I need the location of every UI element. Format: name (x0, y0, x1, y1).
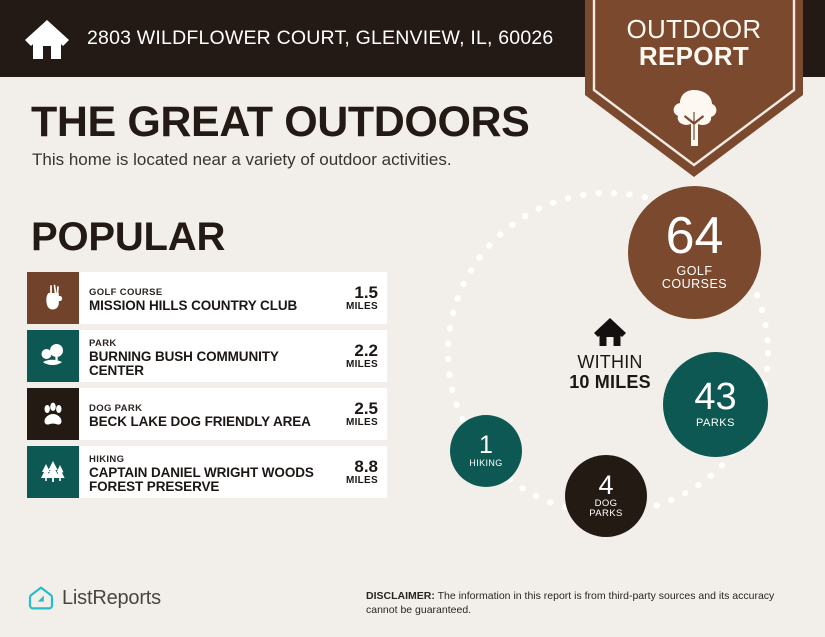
list-item-name: CAPTAIN DANIEL WRIGHT WOODS FOREST PRESE… (89, 466, 321, 495)
stat-label: HIKING (469, 459, 502, 469)
list-item-distance: 8.8 MILES (325, 446, 387, 498)
stat-label-line-2: PARKS (589, 509, 623, 519)
list-item-icon-tile (27, 388, 79, 440)
house-icon (24, 18, 70, 60)
list-item-name: BECK LAKE DOG FRIENDLY AREA (89, 415, 321, 430)
amenities-circle-diagram: 64 GOLF COURSES 43 PARKS 4 DOG PARKS 1 H… (410, 175, 825, 565)
house-icon (593, 317, 627, 347)
listreports-house-logo-icon (28, 585, 54, 611)
list-item-text: HIKING CAPTAIN DANIEL WRIGHT WOODS FORES… (79, 446, 325, 498)
stat-circle-dog-parks[interactable]: 4 DOG PARKS (565, 455, 647, 537)
disclaimer-title: DISCLAIMER: (366, 590, 435, 602)
park-tree-icon (38, 341, 68, 371)
popular-list: GOLF COURSE MISSION HILLS COUNTRY CLUB 1… (27, 272, 387, 504)
badge-shape (585, 0, 803, 177)
list-item-icon-tile (27, 330, 79, 382)
distance-unit: MILES (346, 475, 378, 486)
paw-print-icon (38, 399, 68, 429)
list-item-text: GOLF COURSE MISSION HILLS COUNTRY CLUB (79, 272, 325, 324)
center-line-1: WITHIN (540, 353, 680, 373)
diagram-center-label: WITHIN 10 MILES (540, 317, 680, 393)
page-title: THE GREAT OUTDOORS (31, 98, 529, 147)
list-item[interactable]: PARK BURNING BUSH COMMUNITY CENTER 2.2 M… (27, 330, 387, 382)
outdoor-report-badge: OUTDOOR REPORT (585, 0, 803, 177)
list-item-name: BURNING BUSH COMMUNITY CENTER (89, 350, 321, 379)
list-item-distance: 1.5 MILES (325, 272, 387, 324)
property-address: 2803 WILDFLOWER COURT, GLENVIEW, IL, 600… (87, 27, 553, 50)
listreports-logo-text: ListReports (62, 587, 161, 610)
golf-bag-icon (38, 283, 68, 313)
page-subtitle: This home is located near a variety of o… (32, 150, 452, 170)
listreports-logo[interactable]: ListReports (28, 585, 161, 611)
stat-value: 1 (479, 434, 493, 457)
stat-label: DOG PARKS (589, 499, 623, 519)
distance-value: 1.5 (354, 284, 378, 302)
center-line-2: 10 MILES (540, 373, 680, 393)
pine-trees-icon (38, 457, 68, 487)
distance-value: 2.2 (354, 342, 378, 360)
stat-circle-golf-courses[interactable]: 64 GOLF COURSES (628, 186, 761, 319)
list-item-distance: 2.5 MILES (325, 388, 387, 440)
stat-value: 43 (694, 380, 736, 415)
distance-unit: MILES (346, 301, 378, 312)
list-item-distance: 2.2 MILES (325, 330, 387, 382)
stat-circle-hiking[interactable]: 1 HIKING (450, 415, 522, 487)
stat-value: 64 (666, 213, 724, 261)
stat-value: 4 (598, 473, 613, 498)
distance-unit: MILES (346, 359, 378, 370)
list-item-icon-tile (27, 446, 79, 498)
list-item-icon-tile (27, 272, 79, 324)
distance-value: 8.8 (354, 458, 378, 476)
outdoor-report-page: 2803 WILDFLOWER COURT, GLENVIEW, IL, 600… (0, 0, 825, 637)
list-item-name: MISSION HILLS COUNTRY CLUB (89, 299, 321, 314)
distance-value: 2.5 (354, 400, 378, 418)
list-item[interactable]: DOG PARK BECK LAKE DOG FRIENDLY AREA 2.5… (27, 388, 387, 440)
stat-label-line-1: GOLF (662, 265, 727, 278)
list-item-text: DOG PARK BECK LAKE DOG FRIENDLY AREA (79, 388, 325, 440)
stat-label-line-2: COURSES (662, 278, 727, 291)
stat-label: PARKS (696, 418, 735, 430)
stat-label: GOLF COURSES (662, 265, 727, 292)
disclaimer: DISCLAIMER: The information in this repo… (366, 590, 798, 618)
list-item[interactable]: HIKING CAPTAIN DANIEL WRIGHT WOODS FORES… (27, 446, 387, 498)
distance-unit: MILES (346, 417, 378, 428)
section-heading-popular: POPULAR (31, 215, 225, 260)
list-item-text: PARK BURNING BUSH COMMUNITY CENTER (79, 330, 325, 382)
list-item[interactable]: GOLF COURSE MISSION HILLS COUNTRY CLUB 1… (27, 272, 387, 324)
